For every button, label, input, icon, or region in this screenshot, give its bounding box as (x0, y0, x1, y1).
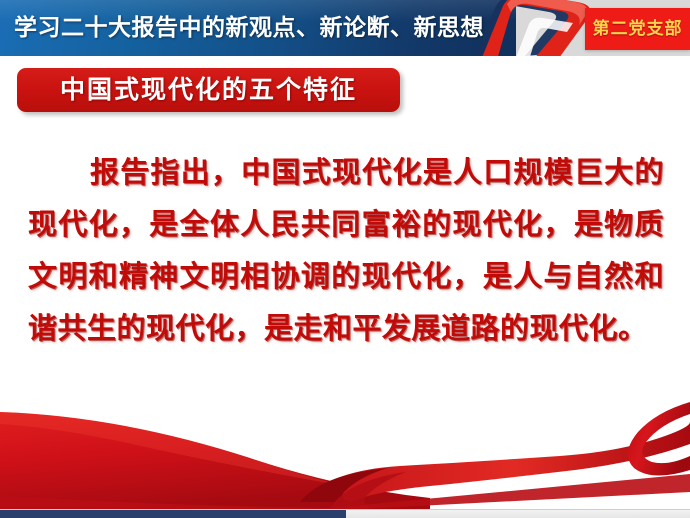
branch-badge: 第二党支部 (585, 8, 690, 50)
red-silk-ribbon-decoration (0, 400, 690, 510)
header-title: 学习二十大报告中的新观点、新论断、新思想 (14, 11, 484, 45)
footer-bar-accent (0, 510, 346, 518)
title-banner-label: 中国式现代化的五个特征 (17, 68, 400, 112)
header-band: 学习二十大报告中的新观点、新论断、新思想 第二党支部 (0, 0, 690, 56)
body-paragraph: 报告指出，中国式现代化是人口规模巨大的现代化，是全体人民共同富裕的现代化，是物质… (28, 146, 664, 354)
title-banner: 中国式现代化的五个特征 (17, 68, 400, 112)
slide: 学习二十大报告中的新观点、新论断、新思想 第二党支部 中国式现代化的五个特征 报… (0, 0, 690, 518)
footer-bar (0, 509, 690, 518)
branch-badge-label: 第二党支部 (585, 8, 690, 50)
